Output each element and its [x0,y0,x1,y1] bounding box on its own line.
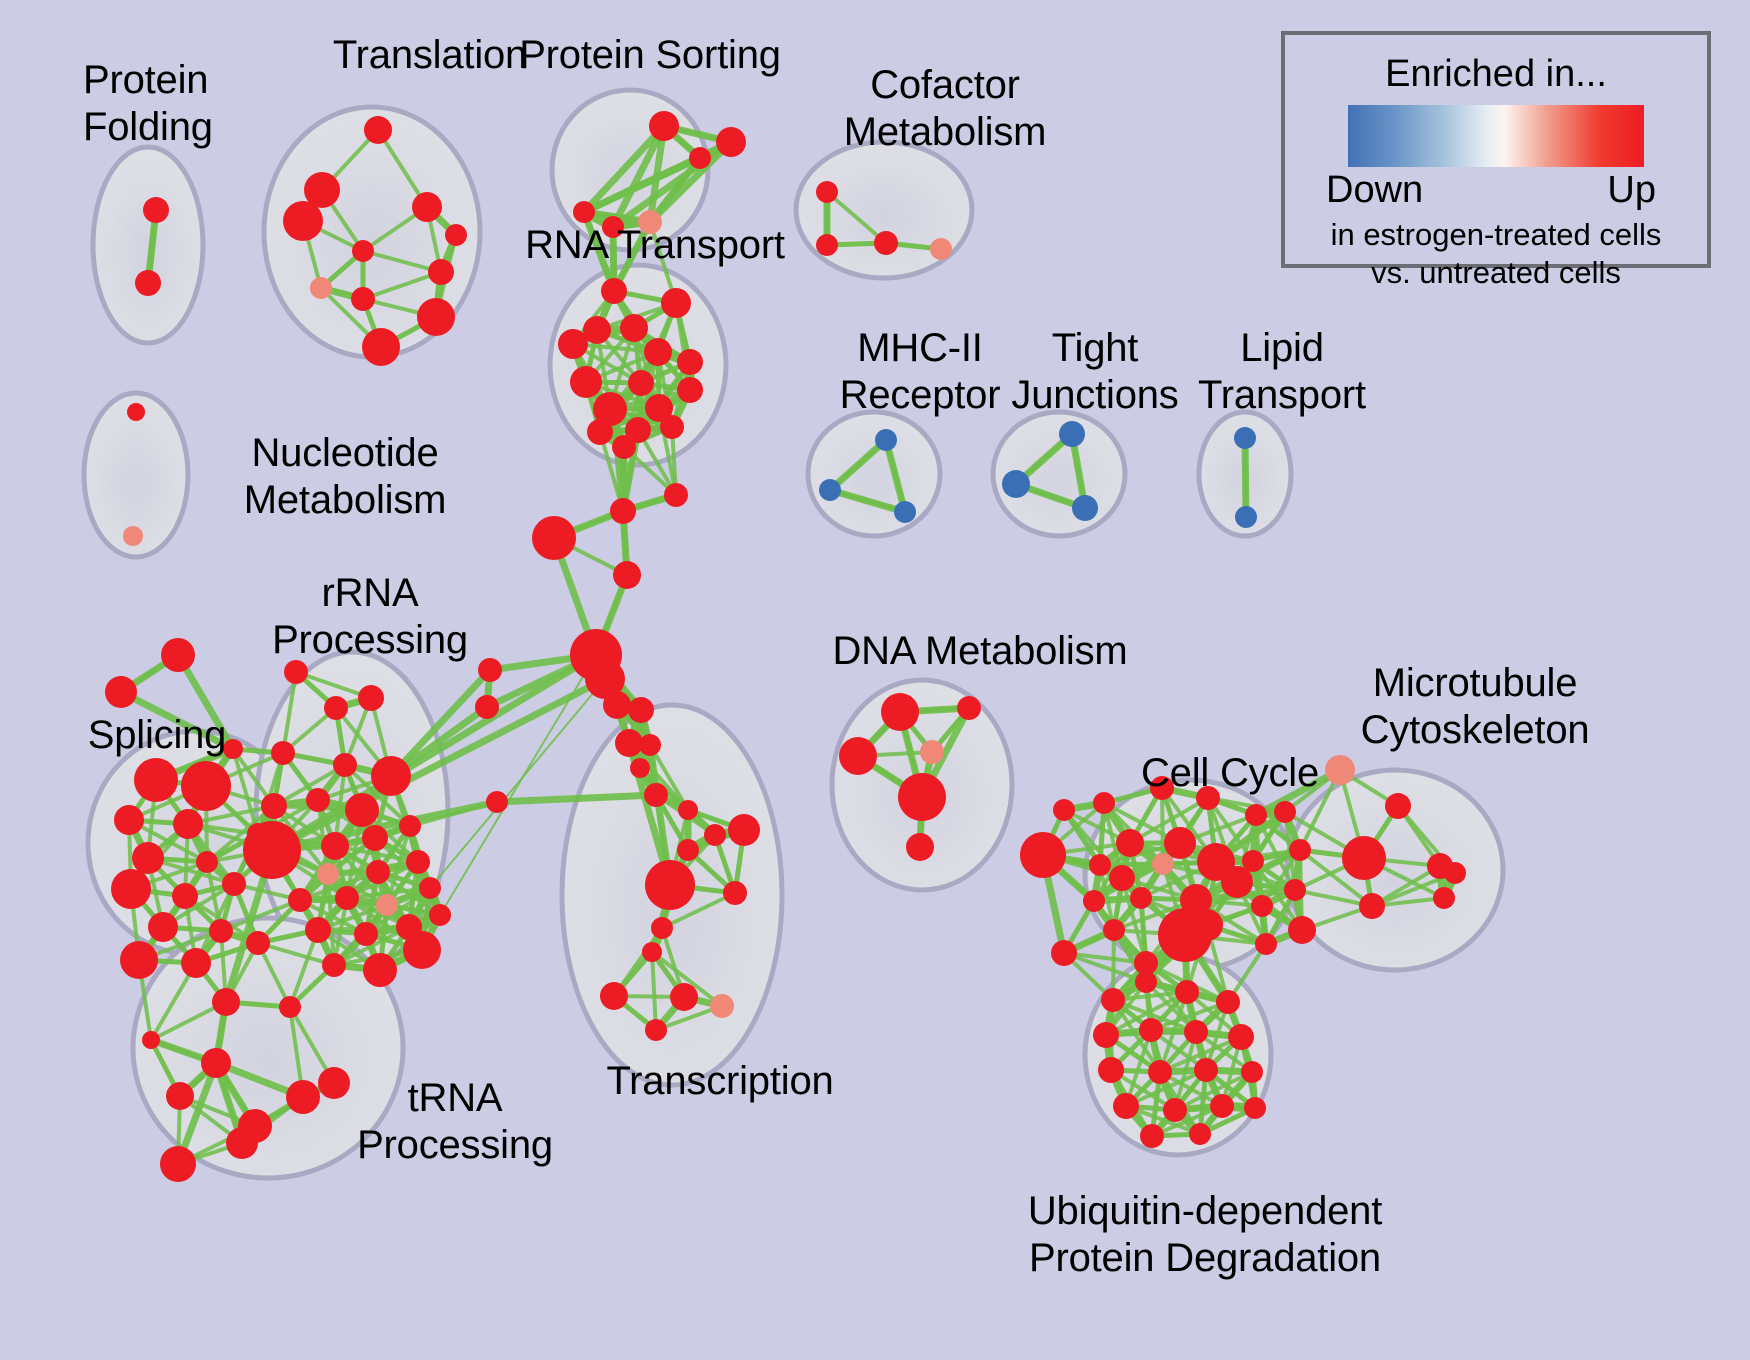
network-node [1191,909,1223,941]
network-node [1130,887,1152,909]
network-node [196,851,218,873]
network-node [678,800,698,820]
network-node [271,741,295,765]
network-node [723,881,747,905]
network-node [335,886,359,910]
network-node [642,942,662,962]
network-node [1109,865,1135,891]
legend-color-bar [1348,105,1644,167]
network-node [181,761,231,811]
network-node [570,366,602,398]
network-node [172,883,198,909]
network-node [283,201,323,241]
network-node [603,691,631,719]
network-node [166,1082,194,1110]
network-node [874,231,898,255]
network-node [310,277,332,299]
cluster-label-transcription: Transcription [570,1058,870,1105]
network-node [261,793,287,819]
network-node [135,270,161,296]
cluster-label-ubiquitin-protein-degradation: Ubiquitin-dependent Protein Degradation [995,1188,1415,1282]
network-node [161,638,195,672]
network-node [620,314,648,342]
network-node [664,483,688,507]
network-node [1089,854,1111,876]
network-node [1234,427,1256,449]
network-node [1255,933,1277,955]
network-node [142,1031,160,1049]
network-node [445,224,467,246]
cluster-label-cofactor-metabolism: Cofactor Metabolism [800,62,1090,156]
network-node [134,758,178,802]
network-node [1083,890,1105,912]
network-node [376,894,398,916]
network-node [610,498,636,524]
network-node [1140,1124,1164,1148]
network-node [898,773,946,821]
network-node [651,917,673,939]
network-node [403,931,441,969]
network-node [201,1048,231,1078]
network-node [1228,1024,1254,1050]
network-node [1098,1057,1124,1083]
network-node [321,832,349,860]
network-node [1189,1123,1211,1145]
network-node [143,197,169,223]
network-node [1135,971,1157,993]
network-node [839,737,877,775]
network-node [600,982,628,1010]
network-node [816,181,838,203]
network-node [352,240,374,262]
network-node [1433,887,1455,909]
network-node [1274,801,1296,823]
network-node [881,693,919,731]
network-node [660,415,684,439]
cluster-label-nucleotide-metabolism: Nucleotide Metabolism [200,430,490,524]
network-node [160,1146,196,1182]
network-node [120,941,158,979]
network-node [1184,1020,1208,1044]
network-node [362,825,388,851]
network-node [1113,1093,1139,1119]
network-node [558,329,588,359]
cluster-label-cell-cycle: Cell Cycle [1105,750,1355,797]
network-node [1342,836,1386,880]
legend-high-label: Up [1607,169,1656,212]
network-node [148,912,178,942]
network-node [181,948,211,978]
network-node [212,988,240,1016]
network-node [428,259,454,285]
network-node [358,685,384,711]
network-node [957,696,981,720]
network-node [645,860,695,910]
network-node [1053,799,1075,821]
network-node [114,805,144,835]
network-node [429,904,451,926]
network-node [819,479,841,501]
network-node [417,298,455,336]
network-node [419,877,441,899]
network-node [1359,893,1385,919]
network-node [105,676,137,708]
cluster-label-splicing: Splicing [62,712,252,759]
network-node [305,917,331,943]
network-node [1289,839,1311,861]
network-node [601,278,627,304]
network-node [716,127,746,157]
network-node [704,824,726,846]
network-node [366,860,390,884]
legend-caption-line1: in estrogen-treated cells [1285,217,1707,253]
network-node [1101,988,1125,1012]
network-node [728,814,760,846]
network-figure: Protein FoldingTranslationProtein Sortin… [0,0,1750,1360]
network-node [1164,827,1196,859]
network-node [816,234,838,256]
network-node [406,850,430,874]
network-node [364,116,392,144]
network-node [1139,1018,1163,1042]
network-node [920,740,944,764]
legend-endpoints: Down Up [1326,169,1666,215]
network-node [371,756,411,796]
network-node [930,238,952,260]
network-node [1148,1060,1172,1084]
network-node [677,377,703,403]
cluster-label-protein-sorting: Protein Sorting [500,32,800,79]
network-node [475,695,499,719]
network-node [288,888,312,912]
network-node [1059,421,1085,447]
network-node [1216,990,1240,1014]
legend-title: Enriched in... [1285,53,1707,96]
network-node [322,953,346,977]
network-node [317,863,339,885]
cluster-label-rrna-processing: rRNA Processing [245,570,495,664]
network-node [1051,940,1077,966]
network-node [532,516,576,560]
network-node [677,839,699,861]
network-node [649,111,679,141]
network-node [222,872,246,896]
network-node [1251,895,1273,917]
network-node [333,753,357,777]
cluster-label-trna-processing: tRNA Processing [320,1075,590,1169]
network-node [613,561,641,589]
legend-caption-line2: vs. untreated cells [1285,255,1707,291]
network-node [1072,495,1098,521]
network-node [587,419,613,445]
network-node [345,793,379,827]
network-node [670,983,698,1011]
cluster-ellipse [808,412,940,536]
network-node [1163,1098,1187,1122]
network-node [1103,919,1125,941]
network-node [111,869,151,909]
network-node [173,809,203,839]
network-node [246,931,270,955]
network-node [351,287,375,311]
network-node [1175,980,1199,1004]
network-node [1288,916,1316,944]
network-node [661,288,691,318]
network-node [906,833,934,861]
cluster-ellipse [93,147,203,343]
network-node [875,429,897,451]
network-node [486,791,508,813]
network-node [615,729,643,757]
cluster-label-dna-metabolism: DNA Metabolism [815,628,1145,675]
network-node [710,994,734,1018]
network-node [1244,1097,1266,1119]
network-node [127,403,145,421]
network-node [894,501,916,523]
cluster-label-microtubule-cytoskeleton: Microtubule Cytoskeleton [1310,660,1640,754]
cluster-label-protein-folding: Protein Folding [83,57,323,151]
network-node [1152,853,1174,875]
network-node [226,1127,258,1159]
network-node [573,201,595,223]
network-node [644,783,668,807]
network-node [1093,1022,1119,1048]
network-node [286,1080,320,1114]
network-node [123,526,143,546]
network-node [306,788,330,812]
network-node [628,697,654,723]
cluster-label-lipid-transport: Lipid Transport [1172,325,1392,419]
legend-box: Enriched in... Down Up in estrogen-treat… [1281,31,1711,268]
network-node [209,919,233,943]
network-node [1194,1058,1218,1082]
network-node [324,696,348,720]
network-node [612,435,636,459]
network-node [243,821,301,879]
network-node [689,147,711,169]
network-node [1235,506,1257,528]
network-node [1385,793,1411,819]
network-node [1020,832,1066,878]
network-node [132,842,164,874]
network-node [1284,879,1306,901]
network-node [399,815,421,837]
network-node [645,1019,667,1041]
network-node [1210,1094,1234,1118]
network-node [630,758,650,778]
network-node [677,349,703,375]
network-edge [1245,438,1246,517]
network-node [412,192,442,222]
network-node [644,338,672,366]
network-node [628,370,654,396]
network-node [1245,804,1267,826]
network-node [362,328,400,366]
network-node [1002,470,1030,498]
network-node [354,922,378,946]
network-node [1241,1061,1263,1083]
cluster-label-rna-transport: RNA Transport [510,222,800,269]
network-node [1444,862,1466,884]
network-node [363,953,397,987]
network-node [279,996,301,1018]
legend-low-label: Down [1326,169,1423,212]
network-node [1221,866,1253,898]
network-node [1116,829,1144,857]
